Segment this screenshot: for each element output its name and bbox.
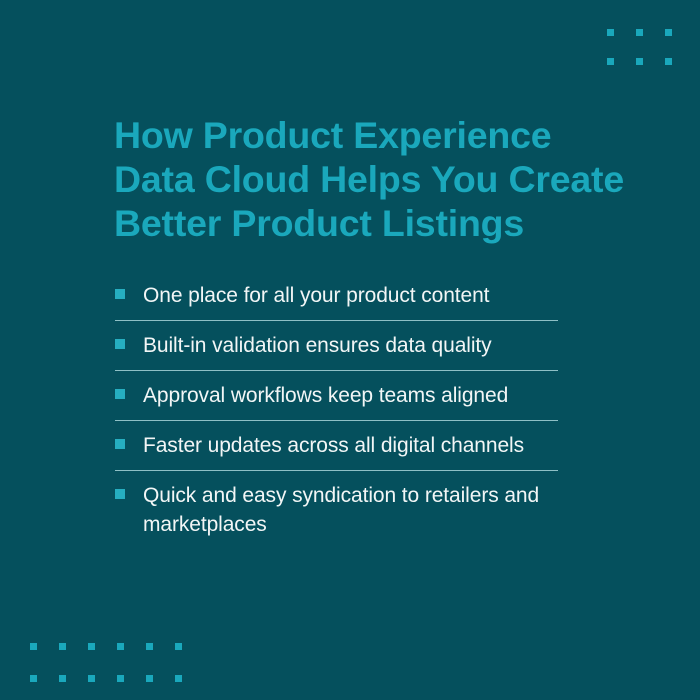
square-dot-icon bbox=[88, 675, 95, 682]
list-item: Built-in validation ensures data quality bbox=[115, 325, 558, 366]
page-title-line-1: How Product Experience bbox=[114, 113, 644, 157]
square-dot-icon bbox=[665, 29, 672, 36]
list-item-label: One place for all your product content bbox=[143, 281, 489, 310]
page-title-line-2: Data Cloud Helps You Create bbox=[114, 157, 644, 201]
square-dot-icon bbox=[30, 643, 37, 650]
square-dot-icon bbox=[175, 675, 182, 682]
square-bullet-icon bbox=[115, 389, 125, 399]
list-item: Quick and easy syndication to retailers … bbox=[115, 475, 558, 545]
square-bullet-icon bbox=[115, 439, 125, 449]
list-item-label: Quick and easy syndication to retailers … bbox=[143, 481, 558, 539]
square-dot-icon bbox=[607, 58, 614, 65]
square-dot-icon bbox=[146, 643, 153, 650]
list-item-label: Approval workflows keep teams aligned bbox=[143, 381, 508, 410]
decorative-dot-grid-bottom-left bbox=[30, 643, 182, 682]
slide-canvas: How Product Experience Data Cloud Helps … bbox=[0, 0, 700, 700]
benefit-list: One place for all your product contentBu… bbox=[115, 275, 558, 545]
square-dot-icon bbox=[30, 675, 37, 682]
list-divider bbox=[115, 370, 558, 371]
list-divider bbox=[115, 420, 558, 421]
decorative-dot-grid-top-right bbox=[607, 29, 672, 65]
square-dot-icon bbox=[117, 675, 124, 682]
square-dot-icon bbox=[636, 58, 643, 65]
list-item-label: Built-in validation ensures data quality bbox=[143, 331, 492, 360]
square-dot-icon bbox=[175, 643, 182, 650]
list-item-label: Faster updates across all digital channe… bbox=[143, 431, 524, 460]
square-dot-icon bbox=[665, 58, 672, 65]
square-dot-icon bbox=[59, 643, 66, 650]
square-dot-icon bbox=[117, 643, 124, 650]
list-item: Approval workflows keep teams aligned bbox=[115, 375, 558, 416]
square-dot-icon bbox=[88, 643, 95, 650]
square-dot-icon bbox=[59, 675, 66, 682]
square-bullet-icon bbox=[115, 339, 125, 349]
square-dot-icon bbox=[607, 29, 614, 36]
page-title-line-3: Better Product Listings bbox=[114, 201, 644, 245]
list-item: One place for all your product content bbox=[115, 275, 558, 316]
page-title: How Product Experience Data Cloud Helps … bbox=[114, 113, 644, 245]
list-divider bbox=[115, 320, 558, 321]
square-bullet-icon bbox=[115, 489, 125, 499]
square-dot-icon bbox=[636, 29, 643, 36]
square-dot-icon bbox=[146, 675, 153, 682]
list-divider bbox=[115, 470, 558, 471]
list-item: Faster updates across all digital channe… bbox=[115, 425, 558, 466]
square-bullet-icon bbox=[115, 289, 125, 299]
